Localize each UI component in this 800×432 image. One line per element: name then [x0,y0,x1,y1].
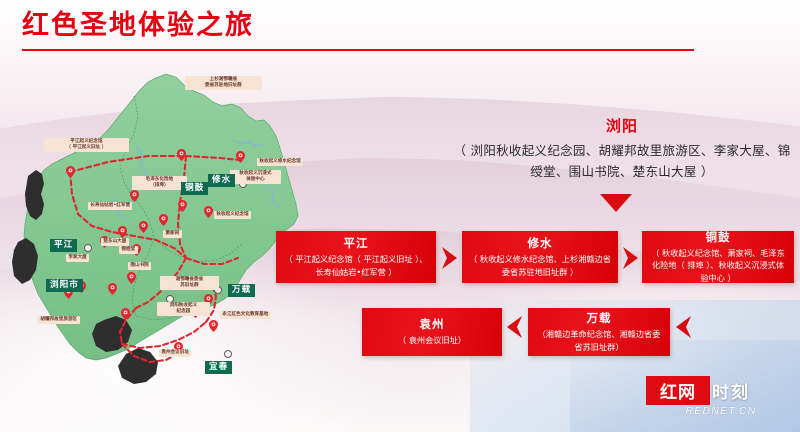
map-site-label-line2: 纪念园 [159,309,207,315]
logo-mark-box: 红网 [646,376,710,405]
map-site-label: 长寿仙姑岩•红军营 [88,202,132,210]
map-site-label-line1: 胡耀邦故里旅游区 [40,317,77,323]
flow-step-yuanzhou[interactable]: 袁州 （ 袁州会议旧址） [362,308,502,356]
flow-step-desc: （湘赣边革命纪念馆、湘赣边省委省苏旧址群） [528,328,670,353]
map-site-label-line1: 围山书院 [130,263,148,269]
map-site-label: 秋收起义沉浸式 体验中心 [230,170,281,184]
map-site-label: 秋收起义纪念馆 [214,211,251,219]
map-site-label: 锦绶堂 [119,246,138,254]
map-site-label-line1: 永江红色文化教育基地 [222,312,268,318]
map-site-label: 浏阳秋收起义 纪念园 [157,302,210,316]
map-pin-icon[interactable] [204,206,213,218]
city-dot-icon [224,350,232,358]
map-pin-icon[interactable] [118,226,127,238]
flow-step-name: 平江 [344,236,369,251]
map-city-label-wanzai: 万载 [228,284,255,297]
map-site-label: 永江红色文化教育基地 [220,311,271,319]
chevron-left-icon [676,316,692,338]
map-site-label-line2: 体验中心 [232,177,278,183]
title-divider [22,49,694,51]
chevron-right-icon [622,247,638,269]
flow-step-name: 修水 [528,236,553,251]
logo-mark-text: 红网 [660,378,696,403]
map-site-label: 毛泽东化险地 （排埠） [132,176,187,190]
map-pin-icon[interactable] [139,221,148,233]
flow-step-name: 万载 [587,311,612,326]
flow-step-name: 铜鼓 [706,230,731,245]
flow-step-desc: （ 平江起义纪念馆（ 平江起义旧址 ）、长寿仙姑岩•红军营 ） [276,253,436,278]
logo-word-box: 时刻 [712,376,750,405]
logo-domain: REDNET.CN [654,405,788,417]
map-pin-icon[interactable] [121,308,130,320]
map-site-label-line1: 楚东山大屋 [103,239,126,245]
flow-step-desc: （ 秋收起义纪念馆、萧家祠、毛泽东化险地（ 排埠 ）、秋收起义沉浸式体验中心 ） [642,247,794,285]
flow-step-tonggu[interactable]: 铜鼓 （ 秋收起义纪念馆、萧家祠、毛泽东化险地（ 排埠 ）、秋收起义沉浸式体验中… [642,231,794,283]
flow-step-wanzai[interactable]: 万载 （湘赣边革命纪念馆、湘赣边省委省苏旧址群） [528,308,670,356]
map-site-label: 萧家祠 [163,230,182,238]
liuyang-site-list: （ 浏阳秋收起义纪念园、胡耀邦故里旅游区、李家大屋、锦绶堂、围山书院、楚东山大屋… [452,140,792,182]
chevron-down-icon [600,194,632,212]
map-site-label: 袁州会议旧址 [159,349,191,357]
map-site-label: 李家大屋 [66,254,89,262]
map-city-label-pingjiang: 平江 [50,239,77,252]
map-site-label-line2: （排埠） [134,183,184,189]
map-site-label-line1: 秋收起义修水纪念馆 [259,159,300,165]
map-site-label-line2: 委省苏驻地旧址群 [187,83,259,89]
route-map: 上杉湘鄂赣省 委省苏驻地旧址群 秋收起义修水纪念馆 平江起义纪念馆 （ 平江起义… [8,58,338,402]
chevron-right-icon [441,247,457,269]
map-pin-icon[interactable] [159,214,168,226]
map-pin-icon[interactable] [127,272,136,284]
map-pin-icon[interactable] [130,190,139,202]
map-pin-icon[interactable] [177,149,186,161]
map-pin-icon[interactable] [178,200,187,212]
map-site-label-line2: 苏旧址群 [162,283,216,289]
logo-word-text: 时刻 [712,378,750,403]
slide-canvas: 红色圣地体验之旅 [0,0,800,432]
map-site-label: 湘鄂赣省委省 苏旧址群 [160,276,219,290]
page-title: 红色圣地体验之旅 [22,10,694,42]
map-site-label-line1: 锦绶堂 [121,247,135,253]
map-site-label-line1: 长寿仙姑岩•红军营 [90,203,130,209]
flow-step-desc: （ 袁州会议旧址） [391,334,473,347]
map-neighbor-southeast [118,348,158,384]
map-city-label-xiushui: 修水 [208,174,235,187]
liuyang-lead-block: 浏阳 （ 浏阳秋收起义纪念园、胡耀邦故里旅游区、李家大屋、锦绶堂、围山书院、楚东… [452,116,792,182]
flow-step-pingjiang[interactable]: 平江 （ 平江起义纪念馆（ 平江起义旧址 ）、长寿仙姑岩•红军营 ） [276,231,436,283]
page-title-text: 红色圣地体验之旅 [22,10,694,42]
map-site-label: 胡耀邦故里旅游区 [38,316,80,324]
map-pin-icon[interactable] [66,166,75,178]
liuyang-city-title: 浏阳 [452,116,792,136]
map-site-label-line1: 萧家祠 [165,231,179,237]
map-pin-icon[interactable] [209,320,218,332]
map-pin-icon[interactable] [108,283,117,295]
map-site-label-line2: （ 平江起义旧址 ） [46,145,126,151]
map-site-label: 上杉湘鄂赣省 委省苏驻地旧址群 [185,76,262,90]
map-site-label: 秋收起义修水纪念馆 [257,158,303,166]
map-site-label: 楚东山大屋 [101,238,129,246]
map-site-label: 平江起义纪念馆 （ 平江起义旧址 ） [44,138,129,152]
map-pin-icon[interactable] [236,151,245,163]
map-city-label-liuyang: 浏阳市 [46,279,83,292]
rednet-logo[interactable]: 红网 时刻 REDNET.CN [646,376,788,422]
map-site-label-line1: 李家大屋 [68,255,86,261]
flow-step-desc: （ 秋收起义修水纪念馆、上杉湘赣边省委省苏驻地旧址群 ） [462,253,618,278]
map-city-label-yichun: 宜春 [205,361,232,374]
city-dot-icon [84,244,92,252]
map-site-label-line1: 袁州会议旧址 [161,350,189,356]
flow-step-name: 袁州 [420,317,445,332]
map-city-label-tonggu: 铜鼓 [181,182,208,195]
flow-step-xiushui[interactable]: 修水 （ 秋收起义修水纪念馆、上杉湘赣边省委省苏驻地旧址群 ） [462,231,618,283]
map-site-label: 围山书院 [128,262,151,270]
map-site-label-line1: 秋收起义纪念馆 [216,212,248,218]
chevron-left-icon [507,316,523,338]
